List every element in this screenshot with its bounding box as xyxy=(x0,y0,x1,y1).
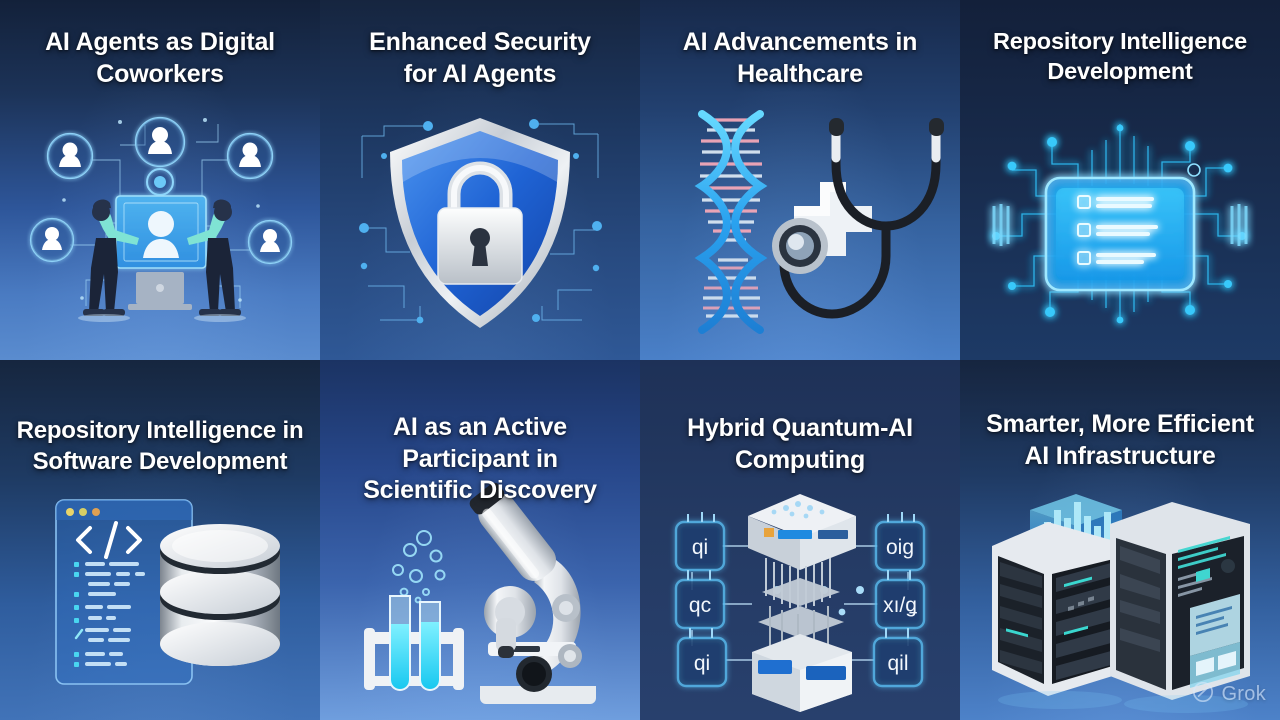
quantum-node-label-right-3: qil xyxy=(887,652,908,675)
quantum-node-label-left-3: qi xyxy=(694,652,710,675)
panel-smarter-more-efficient-ai-infrastructure[interactable]: Smarter, More Efficient AI Infrastructur… xyxy=(960,360,1280,720)
grok-watermark: Grok xyxy=(1192,681,1266,708)
panel-ai-agents-digital-coworkers[interactable]: AI Agents as Digital Coworkers xyxy=(0,0,320,360)
quantum-node-label-left-1: qi xyxy=(692,536,708,559)
grok-watermark-label: Grok xyxy=(1221,683,1266,706)
panel-title: Smarter, More Efficient AI Infrastructur… xyxy=(960,408,1280,472)
panel-title: Enhanced Security for AI Agents xyxy=(320,26,640,90)
panel-hybrid-quantum-ai-computing[interactable]: qi qc qi oig xı/ǥ qil Hybrid Quantum-AI … xyxy=(640,360,960,720)
panel-repository-intelligence-software-development[interactable]: Repository Intelligence in Software Deve… xyxy=(0,360,320,720)
quantum-node-label-right-1: oig xyxy=(886,536,914,559)
panel-title: AI as an Active Participant in Scientifi… xyxy=(320,412,640,507)
panel-title: Hybrid Quantum-AI Computing xyxy=(640,412,960,476)
panel-title: AI Advancements in Healthcare xyxy=(640,26,960,90)
panel-repository-intelligence-development[interactable]: Repository Intelligence Development xyxy=(960,0,1280,360)
quantum-node-label-left-2: qc xyxy=(689,594,711,617)
code-window-with-database-cylinder-icon xyxy=(0,360,320,720)
quantum-node-label-right-2: xı/ǥ xyxy=(883,594,917,617)
panel-title: Repository Intelligence in Software Deve… xyxy=(0,416,320,477)
panel-ai-advancements-healthcare[interactable]: AI Advancements in Healthcare xyxy=(640,0,960,360)
panel-enhanced-security-ai-agents[interactable]: Enhanced Security for AI Agents xyxy=(320,0,640,360)
image-grid: AI Agents as Digital Coworkers xyxy=(0,0,1280,720)
panel-title: Repository Intelligence Development xyxy=(960,26,1280,86)
panel-ai-active-participant-scientific-discovery[interactable]: AI as an Active Participant in Scientifi… xyxy=(320,360,640,720)
panel-title: AI Agents as Digital Coworkers xyxy=(0,26,320,90)
grok-logo-icon xyxy=(1192,681,1214,708)
